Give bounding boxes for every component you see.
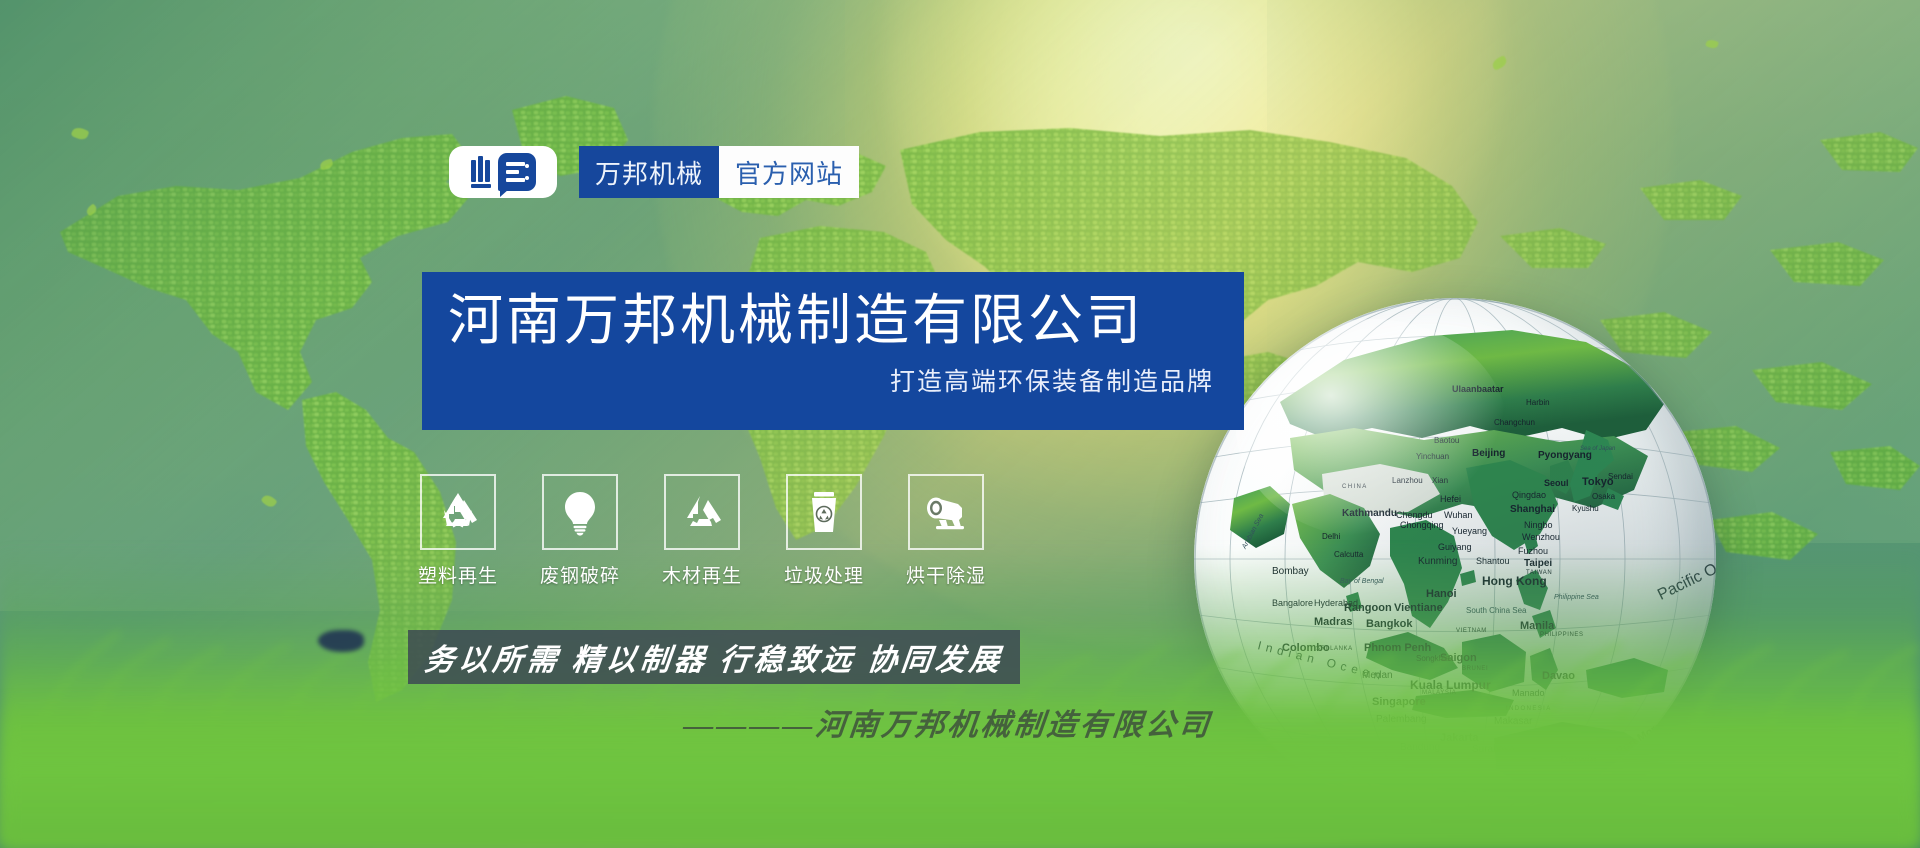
logo-mark[interactable] [449,146,557,198]
slogan-signature: ————河南万邦机械制造有限公司 [682,700,1215,744]
service-label: 垃圾处理 [784,561,864,588]
icon-frame [542,474,618,550]
hero-title-panel: 河南万邦机械制造有限公司 打造高端环保装备制造品牌 [422,272,1244,430]
recycle-icon [678,488,726,536]
slogan-text: 务以所需 精以制器 行稳致远 协同发展 [422,635,1005,679]
icon-frame [420,474,496,550]
dryer-icon [922,488,970,536]
service-item-plastic-recycling[interactable]: 塑料再生 [410,474,506,588]
service-item-drying-dehumidifying[interactable]: 烘干除湿 [898,474,994,588]
site-tag[interactable]: 官方网站 [719,146,859,198]
service-item-wood-recycling[interactable]: 木材再生 [654,474,750,588]
lightbulb-icon [556,488,604,536]
insect-speck [318,630,364,652]
service-label: 废钢破碎 [540,561,620,588]
icon-frame [786,474,862,550]
service-label: 烘干除湿 [906,561,986,588]
logo-letter-w [471,156,491,188]
recycle-icon [434,488,482,536]
service-label: 木材再生 [662,561,742,588]
site-logo-bar[interactable]: 万邦机械 官方网站 [449,146,859,198]
trash-bin-icon [800,488,848,536]
slogan-banner: 务以所需 精以制器 行稳致远 协同发展 [408,630,1020,684]
hero-banner: Ulaanbaatar Beijing Yinchuan Baotou Chan… [0,0,1920,848]
page-subtitle: 打造高端环保装备制造品牌 [448,362,1214,398]
service-item-scrap-steel-shredding[interactable]: 废钢破碎 [532,474,628,588]
service-label: 塑料再生 [418,561,498,588]
logo-letter-b-bubble [498,153,536,191]
service-icon-row: 塑料再生 废钢破碎 [410,474,994,588]
icon-frame [908,474,984,550]
icon-frame [664,474,740,550]
page-title: 河南万邦机械制造有限公司 [448,290,1214,352]
service-item-waste-treatment[interactable]: 垃圾处理 [776,474,872,588]
brand-tag[interactable]: 万邦机械 [579,146,719,198]
